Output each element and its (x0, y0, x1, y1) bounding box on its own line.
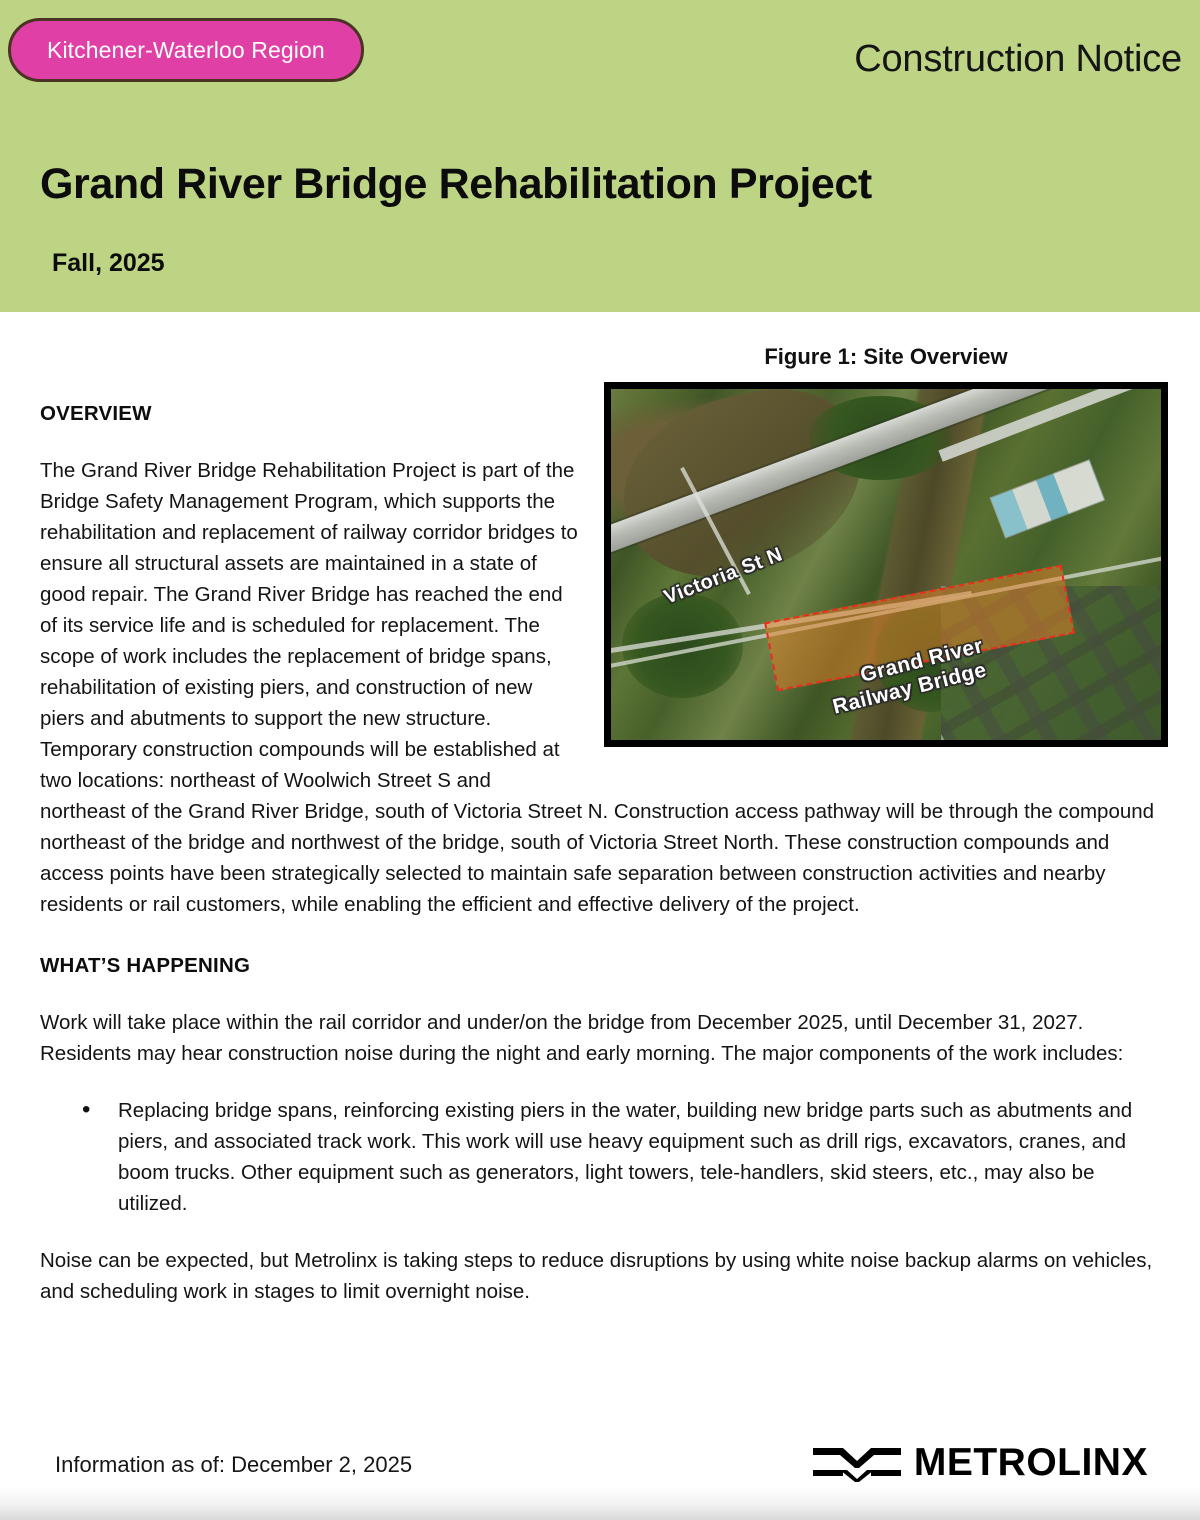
figure-text-wrap-spacer (580, 398, 1160, 766)
document-body: OVERVIEW The Grand River Bridge Rehabili… (40, 398, 1160, 1307)
region-badge: Kitchener-Waterloo Region (8, 18, 364, 82)
whats-happening-heading: WHAT’S HAPPENING (40, 950, 1160, 981)
notice-type-label: Construction Notice (854, 38, 1182, 81)
metrolinx-wordmark: METROLINX (914, 1443, 1148, 1482)
metrolinx-mark-icon (813, 1442, 901, 1482)
page-footer: Information as of: December 2, 2025 METR… (0, 1434, 1200, 1520)
document-season: Fall, 2025 (52, 249, 165, 278)
noise-mitigation-paragraph: Noise can be expected, but Metrolinx is … (40, 1245, 1160, 1307)
work-components-list: Replacing bridge spans, reinforcing exis… (40, 1095, 1160, 1219)
information-as-of: Information as of: December 2, 2025 (55, 1452, 412, 1478)
header-band: Kitchener-Waterloo Region Construction N… (0, 0, 1200, 312)
list-item: Replacing bridge spans, reinforcing exis… (118, 1095, 1160, 1219)
metrolinx-logo: METROLINX (813, 1442, 1148, 1482)
region-badge-label: Kitchener-Waterloo Region (47, 37, 325, 64)
page-title: Grand River Bridge Rehabilitation Projec… (40, 160, 872, 209)
whats-happening-intro: Work will take place within the rail cor… (40, 1007, 1160, 1069)
figure-caption: Figure 1: Site Overview (604, 344, 1168, 370)
construction-notice-page: Kitchener-Waterloo Region Construction N… (0, 0, 1200, 1520)
